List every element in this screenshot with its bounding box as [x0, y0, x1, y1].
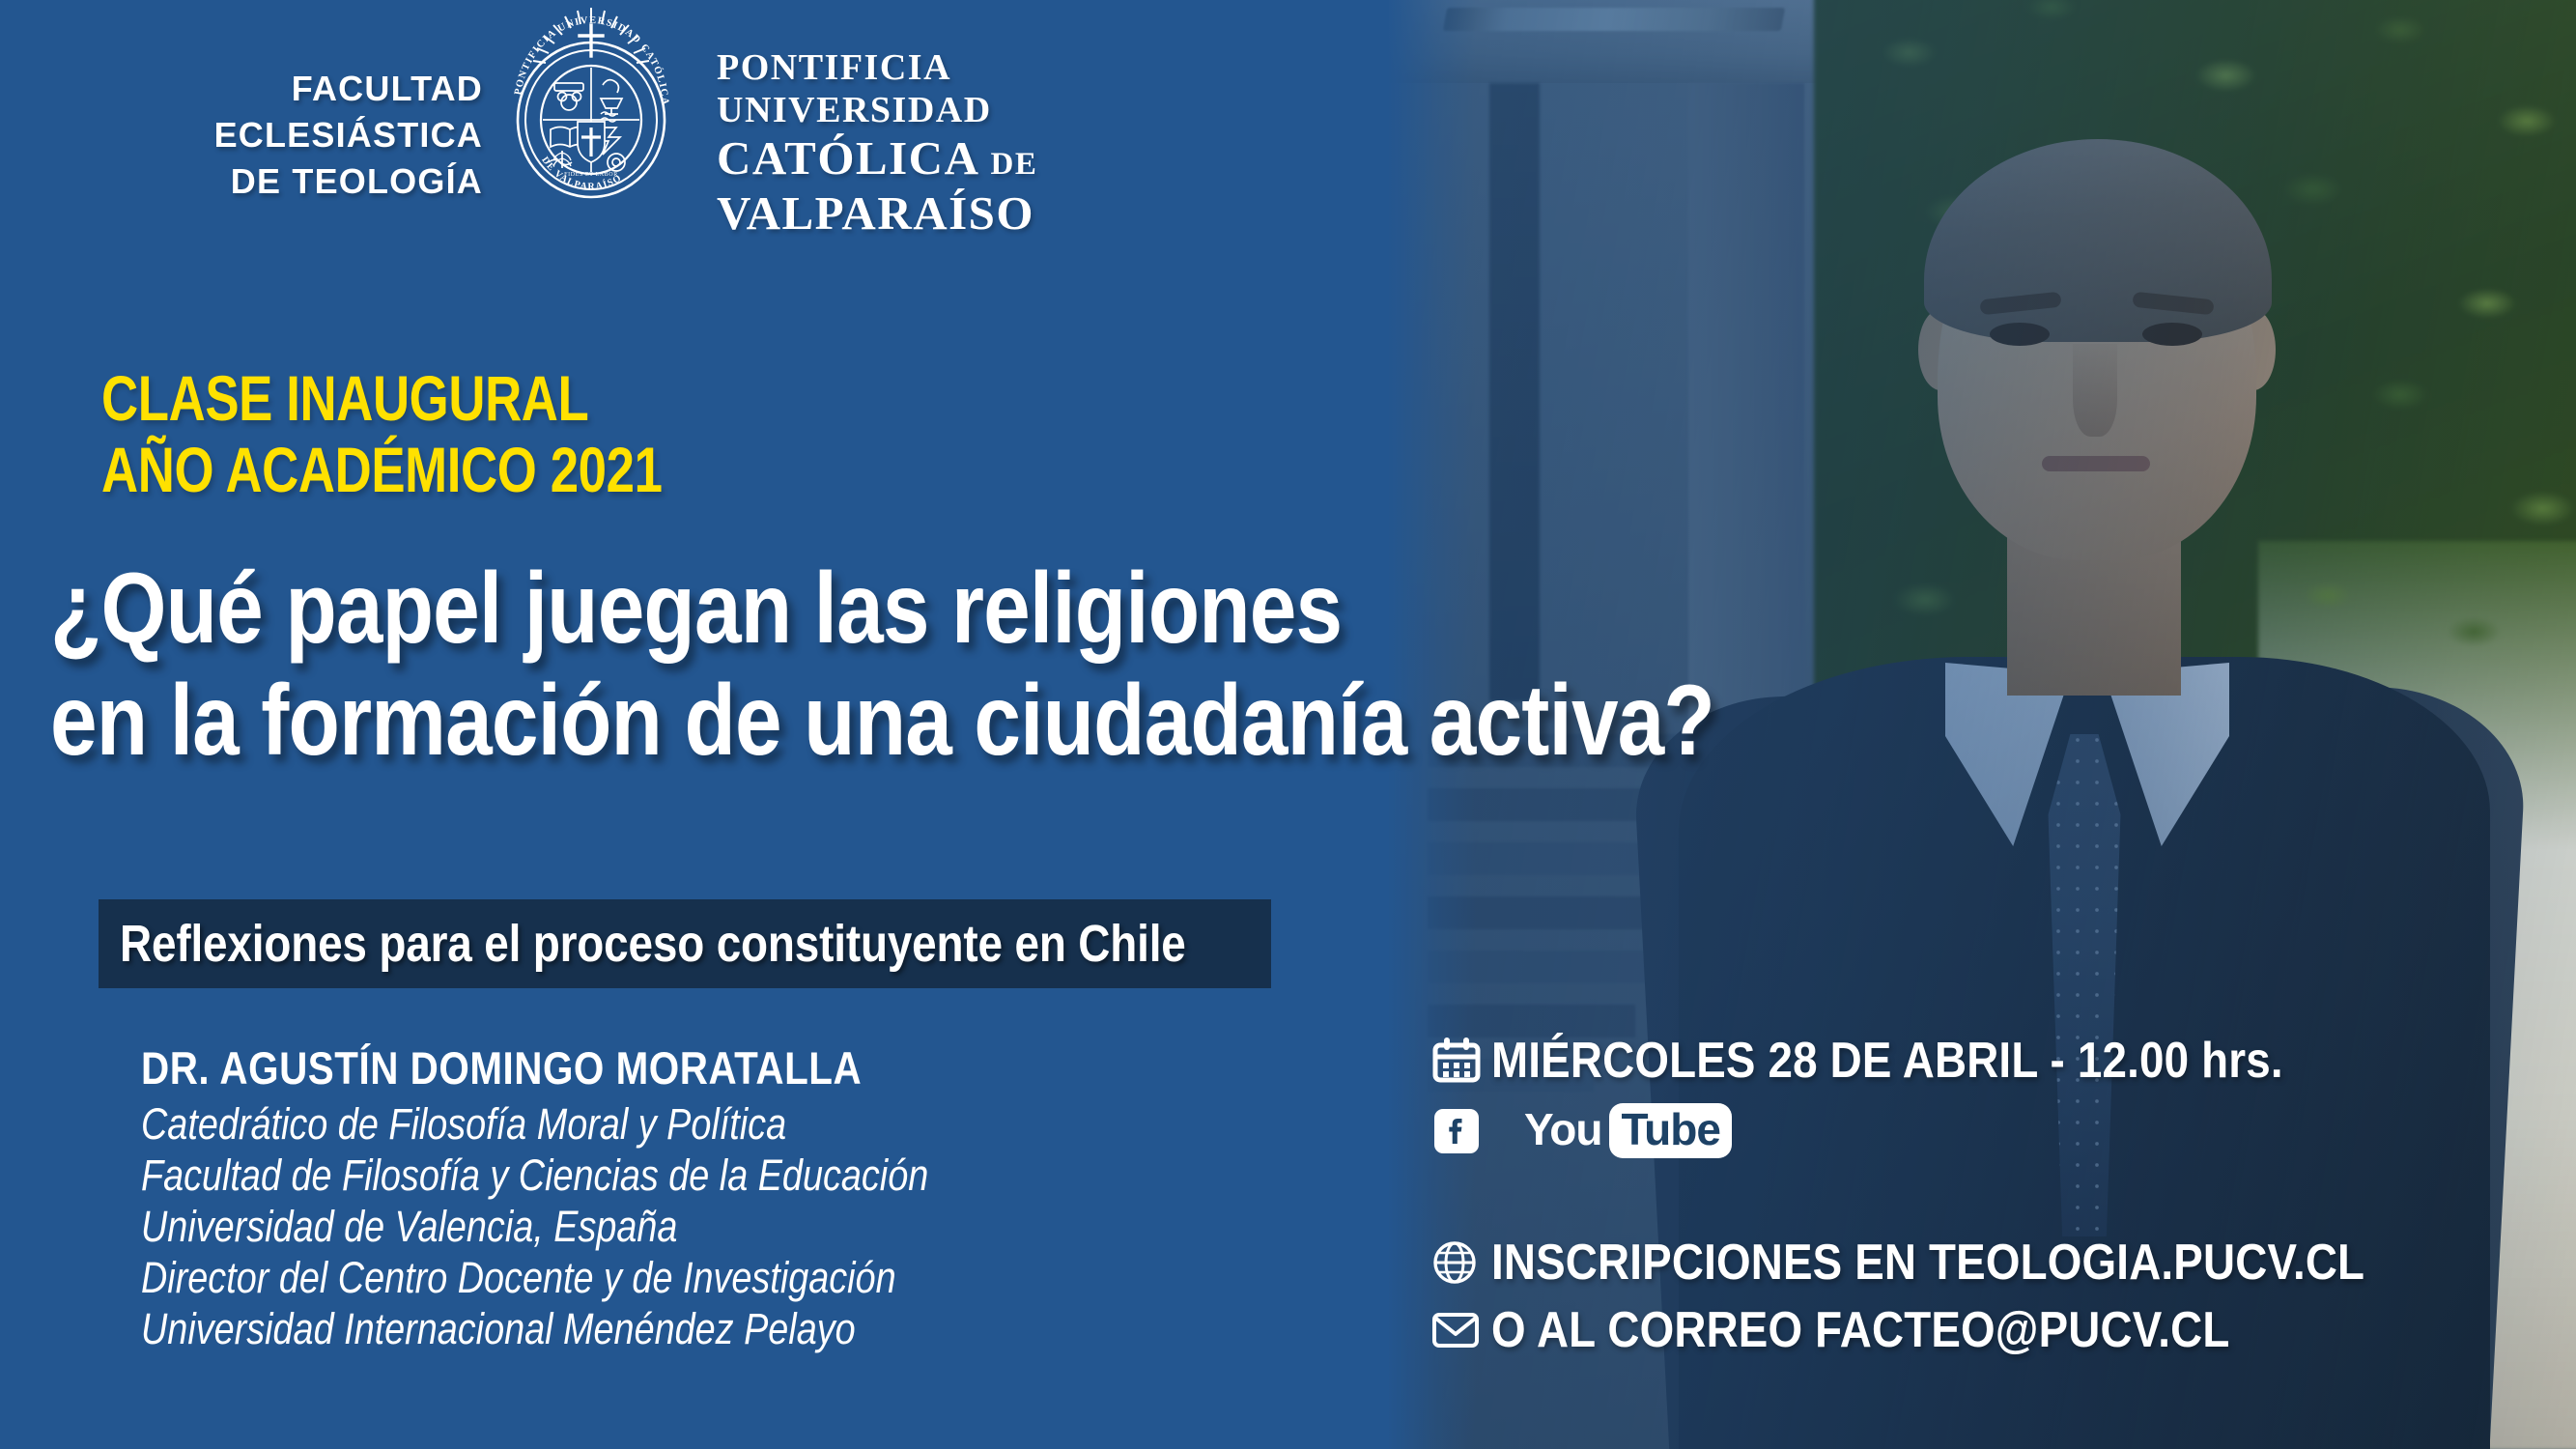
faculty-lockup: FACULTAD ECLESIÁSTICA DE TEOLOGÍA: [126, 66, 483, 205]
faculty-line-3: DE TEOLOGÍA: [126, 158, 483, 205]
page-title: ¿Qué papel juegan las religiones en la f…: [50, 553, 1714, 778]
poster-header: FACULTAD ECLESIÁSTICA DE TEOLOGÍA: [0, 0, 1389, 208]
facebook-icon[interactable]: [1431, 1106, 1491, 1156]
headline-line-2: en la formación de una ciudadanía activa…: [50, 665, 1714, 777]
university-line-1: PONTIFICIA: [717, 46, 1037, 89]
registration-text: INSCRIPCIONES EN TEOLOGIA.PUCV.CL: [1491, 1234, 2364, 1292]
subtitle-banner: Reflexiones para el proceso constituyent…: [99, 899, 1271, 988]
university-line-4: VALPARAÍSO: [717, 186, 1037, 241]
university-name: PONTIFICIA UNIVERSIDAD CATÓLICA DE VALPA…: [717, 46, 1037, 241]
faculty-line-1: FACULTAD: [126, 66, 483, 112]
university-line-3-small: DE: [991, 147, 1038, 182]
envelope-icon: [1431, 1311, 1491, 1350]
email-text: O AL CORREO FACTEO@PUCV.CL: [1491, 1301, 2230, 1359]
speaker-affiliation-1: Catedrático de Filosofía Moral y Polític…: [141, 1098, 952, 1150]
speaker-affiliation-4: Director del Centro Docente y de Investi…: [141, 1252, 952, 1303]
event-date-text: MIÉRCOLES 28 DE ABRIL - 12.00 hrs.: [1491, 1032, 2283, 1090]
email-row: O AL CORREO FACTEO@PUCV.CL: [1431, 1301, 2494, 1359]
speaker-affiliation-2: Facultad de Filosofía y Ciencias de la E…: [141, 1150, 952, 1201]
youtube-tube: Tube: [1609, 1103, 1731, 1158]
seal-motto: FIDES ET LABOR: [564, 172, 618, 178]
youtube-logo[interactable]: YouTube: [1524, 1103, 1732, 1158]
speaker-affiliation-3: Universidad de Valencia, España: [141, 1201, 952, 1252]
kicker-line-2: AÑO ACADÉMICO 2021: [101, 435, 663, 506]
faculty-line-2: ECLESIÁSTICA: [126, 112, 483, 158]
pucv-coat-of-arms-seal: PONTIFICIA UNIVERSIDAD CATÓLICA DE VALPA…: [495, 6, 688, 201]
university-line-3-main: CATÓLICA: [717, 131, 977, 185]
kicker-line-1: CLASE INAUGURAL: [101, 363, 663, 435]
event-kicker: CLASE INAUGURAL AÑO ACADÉMICO 2021: [101, 363, 663, 506]
registration-row: INSCRIPCIONES EN TEOLOGIA.PUCV.CL: [1431, 1234, 2494, 1292]
university-line-3: CATÓLICA DE: [717, 131, 1037, 186]
youtube-you: You: [1524, 1104, 1601, 1154]
poster-canvas: FACULTAD ECLESIÁSTICA DE TEOLOGÍA: [0, 0, 2576, 1449]
speaker-block: DR. AGUSTÍN DOMINGO MORATALLA Catedrátic…: [141, 1041, 1107, 1354]
calendar-icon: [1431, 1036, 1491, 1086]
globe-icon: [1431, 1239, 1491, 1286]
subtitle-text: Reflexiones para el proceso constituyent…: [120, 914, 1186, 974]
speaker-name: DR. AGUSTÍN DOMINGO MORATALLA: [141, 1041, 972, 1094]
event-date-row: MIÉRCOLES 28 DE ABRIL - 12.00 hrs.: [1431, 1032, 2494, 1090]
social-row: YouTube: [1431, 1103, 2494, 1158]
headline-line-1: ¿Qué papel juegan las religiones: [50, 553, 1714, 665]
university-line-2: UNIVERSIDAD: [717, 89, 1037, 131]
event-info-block: MIÉRCOLES 28 DE ABRIL - 12.00 hrs. YouTu…: [1431, 1032, 2494, 1359]
speaker-affiliation-5: Universidad Internacional Menéndez Pelay…: [141, 1303, 952, 1354]
